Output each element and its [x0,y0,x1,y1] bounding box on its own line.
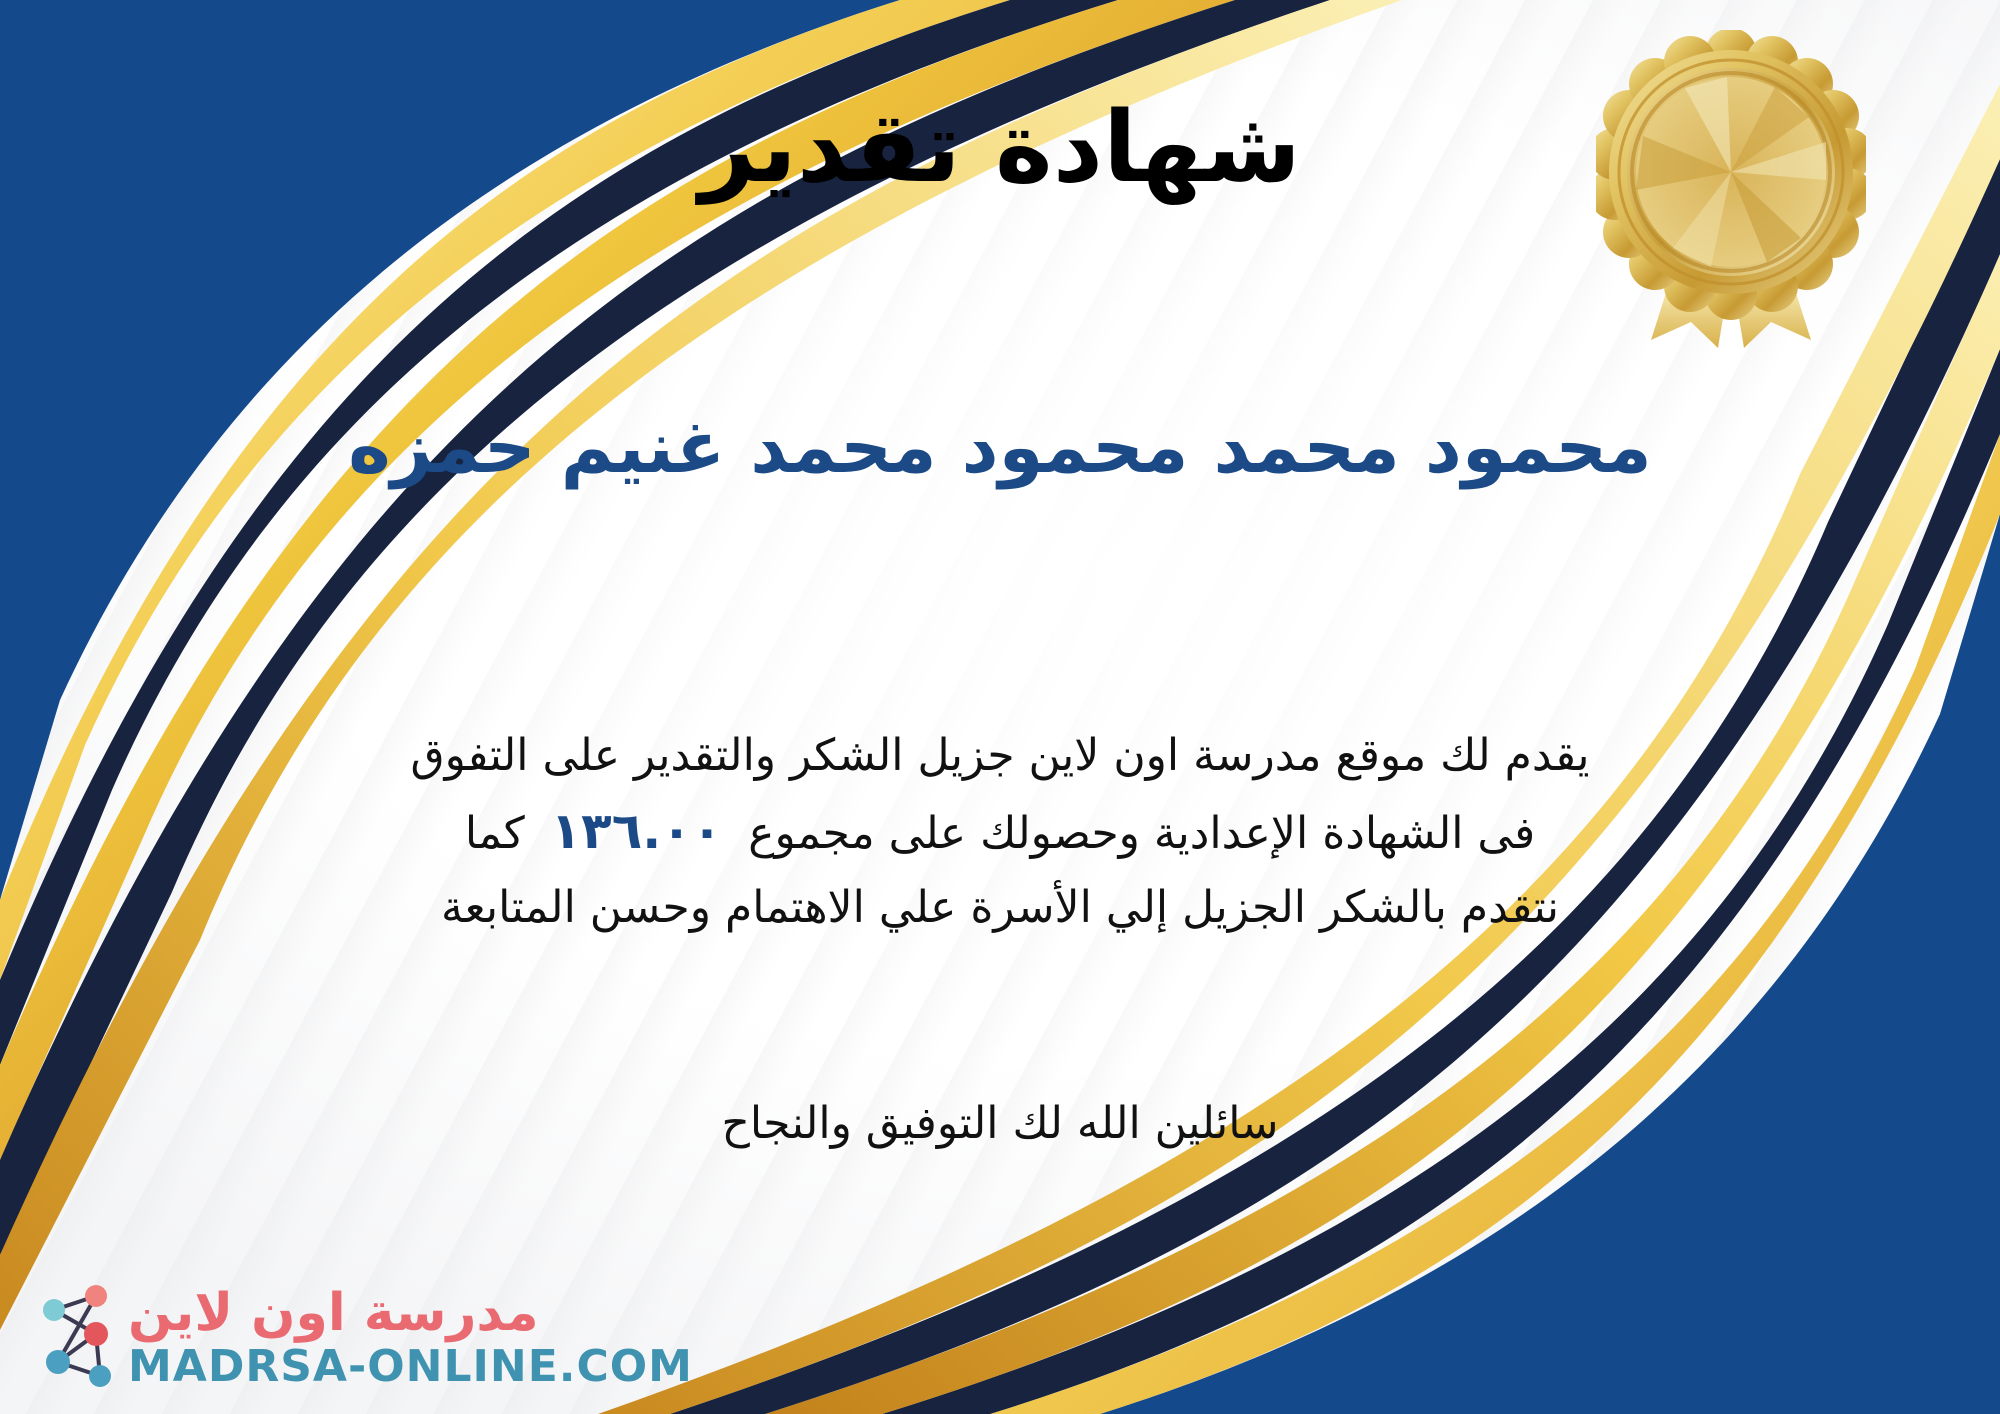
brand-name-arabic: مدرسة اون لاين [128,1287,539,1339]
brand-logo[interactable]: مدرسة اون لاين MADRSA-ONLINE.COM [26,1284,693,1392]
recipient-name: محمود محمد محمود محمد غنيم حمزه [0,404,2000,490]
body-line-2: فى الشهادة الإعدادية وحصولك على مجموع١٣٦… [120,791,1880,872]
body-line-3: نتقدم بالشكر الجزيل إلي الأسرة علي الاهت… [120,872,1880,943]
brand-url: MADRSA-ONLINE.COM [128,1345,693,1389]
page-title: شهادة تقدير [0,92,2000,205]
body-line-2-left-text: كما [465,808,525,859]
total-grade-value: ١٣٦.٠٠ [525,802,749,860]
closing-wish: سائلين الله لك التوفيق والنجاح [0,1098,2000,1149]
certificate-page: شهادة تقدير محمود محمد محمود محمد غنيم ح… [0,0,2000,1414]
brand-text: مدرسة اون لاين MADRSA-ONLINE.COM [128,1287,693,1389]
body-line-2-right-text: فى الشهادة الإعدادية وحصولك على مجموع [748,808,1535,859]
body-line-1: يقدم لك موقع مدرسة اون لاين جزيل الشكر و… [120,720,1880,791]
certificate-body: يقدم لك موقع مدرسة اون لاين جزيل الشكر و… [120,720,1880,944]
network-nodes-icon [26,1284,118,1392]
